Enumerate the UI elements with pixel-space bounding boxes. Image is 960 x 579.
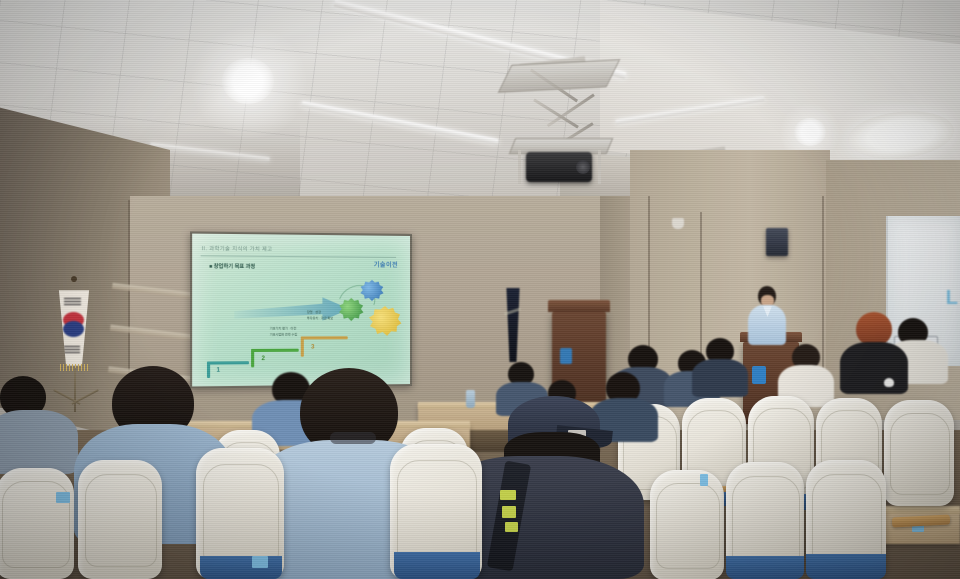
slide-header-rule <box>201 255 396 258</box>
chair-base-f3 <box>200 556 282 579</box>
projector-lens <box>576 160 590 174</box>
wall-speaker <box>766 228 788 256</box>
slide-subheading-text: ■ 창업하기 목표 과정 <box>209 263 255 270</box>
slide-step-1: 1 <box>207 361 249 382</box>
attendee-redhair-shirt-graphic <box>884 378 894 387</box>
slide-step-3-label: 3 <box>311 344 314 350</box>
slide-cluster-yellow-icon <box>368 306 402 338</box>
slide-step-1-label: 1 <box>216 368 220 374</box>
water-bottle <box>466 390 475 408</box>
downlight-right-upper <box>794 118 826 146</box>
side-board-logo: L <box>946 288 958 308</box>
projection-screen-surface: II. 과학기술 지식의 가치 제고 ■ 창업하기 목표 과정 기술이전 창업 … <box>192 234 410 387</box>
slide-bullet-note-2: 기술가치 평가 · 이전 <box>270 326 296 331</box>
korean-flag-cloth <box>56 290 92 366</box>
downlight-front-left <box>222 58 274 104</box>
seminar-room-photo: II. 과학기술 지식의 가치 제고 ■ 창업하기 목표 과정 기술이전 창업 … <box>0 0 960 579</box>
slide-bullet-note-4: 창업 · 성장 <box>307 310 321 314</box>
podium-secondary-top <box>548 300 610 312</box>
chair-f1[interactable] <box>0 468 74 579</box>
projection-screen: II. 과학기술 지식의 가치 제고 ■ 창업하기 목표 과정 기술이전 창업 … <box>190 231 412 388</box>
attendee-center-denim-necklace <box>330 432 376 444</box>
bag-strap-graphic-1 <box>500 490 516 500</box>
chair-base-f4 <box>394 552 480 579</box>
attendee-rear-right-body <box>692 359 748 397</box>
chair-base-rf2 <box>726 556 804 579</box>
chair-tag-r2 <box>700 474 708 486</box>
bag-strap-graphic-3 <box>505 522 518 532</box>
organization-flag-cloth <box>502 288 524 362</box>
chair-base-rf3 <box>806 554 886 579</box>
flag-taeguk-blue <box>63 321 84 337</box>
attendee-far-left-body <box>0 410 78 474</box>
projector-cage-post-right <box>598 150 601 184</box>
slide-callout-word: 기술이전 <box>374 260 398 269</box>
slide-bullet-note-3: 투자유치 · 자금 확보 <box>307 316 333 320</box>
slide-step-2: 2 <box>251 349 299 372</box>
chair-rf1[interactable] <box>650 470 724 579</box>
slide-header-text: II. 과학기술 지식의 가치 제고 <box>202 245 273 253</box>
slide-step-3: 3 <box>301 336 348 359</box>
ceiling-projector-assembly <box>500 62 620 188</box>
security-camera <box>672 218 684 229</box>
podium-main-logo <box>752 366 766 384</box>
presenter <box>744 286 790 344</box>
slide-bullet-note-1: 기술사업화 전략 수립 <box>270 332 297 337</box>
projector-scissor-arm-3 <box>533 98 579 128</box>
slide-step-2-label: 2 <box>261 356 264 362</box>
desk-right-front-edge <box>878 506 960 514</box>
flag-pole <box>74 368 76 412</box>
bag-strap-graphic-2 <box>502 506 516 518</box>
chair-tag-f3 <box>252 556 268 568</box>
flag-finial <box>71 276 77 282</box>
chair-r5[interactable] <box>884 400 954 506</box>
chair-tag-f1 <box>56 492 70 503</box>
chair-f2[interactable] <box>78 460 162 579</box>
organization-flag-assembly <box>500 288 528 374</box>
podium-secondary-logo <box>560 348 572 364</box>
attendee-redhair-head <box>856 312 892 346</box>
attendee-redhair-body <box>840 342 908 394</box>
projector-cage-post-left <box>518 150 521 184</box>
